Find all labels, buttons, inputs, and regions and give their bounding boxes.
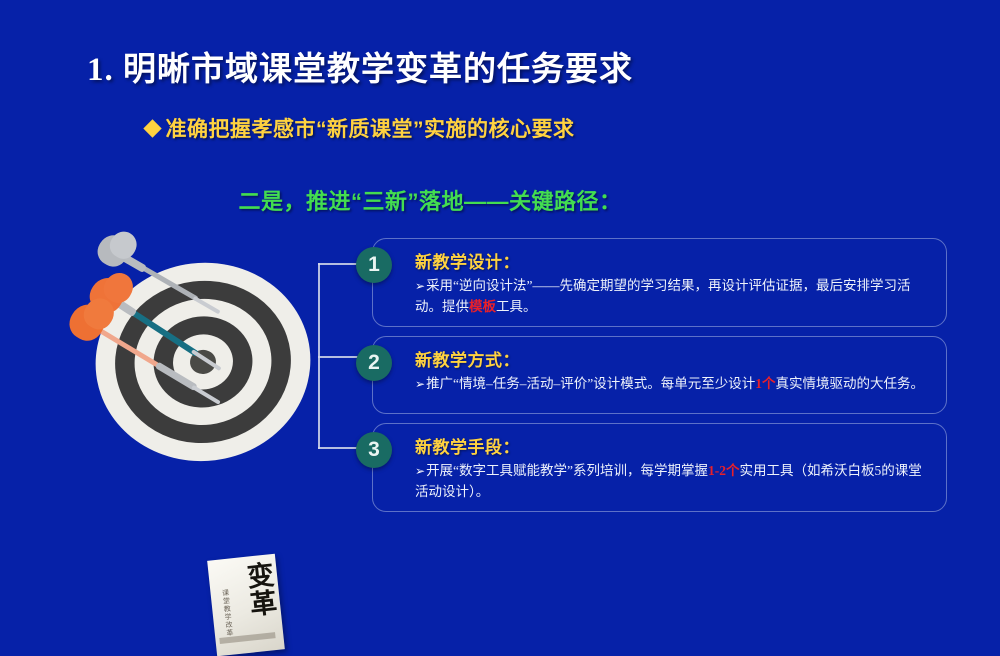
- item-number-badge: 2: [356, 345, 392, 381]
- list-item[interactable]: 2 新教学方式： ➢推广“情境–任务–活动–评价”设计模式。每单元至少设计1个真…: [372, 336, 947, 414]
- item-body-post: 真实情境驱动的大任务。: [776, 376, 925, 391]
- arrow-bullet-icon: ➢: [415, 279, 425, 293]
- item-body: ➢推广“情境–任务–活动–评价”设计模式。每单元至少设计1个真实情境驱动的大任务…: [415, 374, 932, 395]
- diamond-icon: [143, 119, 161, 137]
- item-heading: 新教学手段：: [415, 433, 932, 458]
- item-number-badge: 3: [356, 432, 392, 468]
- item-body: ➢开展“数字工具赋能教学”系列培训，每学期掌握1-2个实用工具（如希沃白板5的课…: [415, 461, 932, 502]
- subtitle-text: 准确把握孝感市“新质课堂”实施的核心要求: [166, 113, 575, 143]
- item-body-pre: 开展“数字工具赋能教学”系列培训，每学期掌握: [426, 463, 708, 478]
- item-body-highlight: 模板: [469, 299, 496, 314]
- change-card-text: 变革: [243, 560, 274, 618]
- item-body-post: 工具。: [496, 299, 537, 314]
- item-heading: 新教学设计：: [415, 248, 932, 273]
- list-item[interactable]: 1 新教学设计： ➢采用“逆向设计法”——先确定期望的学习结果，再设计评估证据，…: [372, 238, 947, 327]
- page-title: 1. 明晰市域课堂教学变革的任务要求: [0, 42, 1000, 90]
- item-body-highlight: 1个: [755, 376, 775, 391]
- change-card: 变革 课堂教学改革: [207, 554, 285, 656]
- item-body: ➢采用“逆向设计法”——先确定期望的学习结果，再设计评估证据，最后安排学习活动。…: [415, 276, 932, 317]
- item-list: 1 新教学设计： ➢采用“逆向设计法”——先确定期望的学习结果，再设计评估证据，…: [372, 238, 947, 521]
- slide-canvas: 1. 明晰市域课堂教学变革的任务要求 准确把握孝感市“新质课堂”实施的核心要求 …: [0, 0, 1000, 562]
- dartboard-illustration: 变革 课堂教学改革: [75, 235, 325, 480]
- list-item[interactable]: 3 新教学手段： ➢开展“数字工具赋能教学”系列培训，每学期掌握1-2个实用工具…: [372, 423, 947, 512]
- item-heading: 新教学方式：: [415, 346, 932, 371]
- arrow-bullet-icon: ➢: [415, 464, 425, 478]
- arrow-bullet-icon: ➢: [415, 377, 425, 391]
- section-heading: 二是，推进“三新”落地——关键路径：: [0, 184, 1000, 216]
- item-body-pre: 推广“情境–任务–活动–评价”设计模式。每单元至少设计: [426, 376, 755, 391]
- subtitle-line: 准确把握孝感市“新质课堂”实施的核心要求: [0, 113, 1000, 143]
- item-body-highlight: 1-2个: [708, 463, 740, 478]
- item-number-badge: 1: [356, 247, 392, 283]
- change-card-subtext: 课堂教学改革: [219, 589, 234, 638]
